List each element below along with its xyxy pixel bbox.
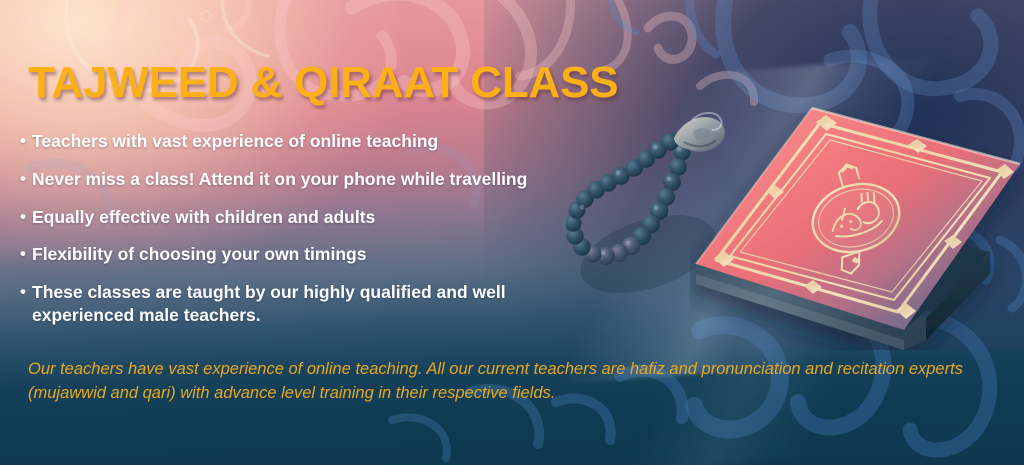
- list-item-label: Equally effective with children and adul…: [32, 206, 640, 229]
- bullet-dot-icon: •: [20, 243, 32, 265]
- list-item-label: These classes are taught by our highly q…: [32, 281, 640, 327]
- list-item-label: Teachers with vast experience of online …: [32, 130, 640, 153]
- list-item-label: Flexibility of choosing your own timings: [32, 243, 640, 266]
- list-item: • Teachers with vast experience of onlin…: [20, 130, 640, 153]
- list-item: • Never miss a class! Attend it on your …: [20, 168, 640, 191]
- banner-content: TAJWEED & QIRAAT CLASS • Teachers with v…: [0, 0, 1024, 465]
- bullet-dot-icon: •: [20, 206, 32, 228]
- footnote-text: Our teachers have vast experience of onl…: [28, 358, 988, 406]
- list-item-label: Never miss a class! Attend it on your ph…: [32, 168, 640, 191]
- bullet-dot-icon: •: [20, 281, 32, 303]
- list-item: • Flexibility of choosing your own timin…: [20, 243, 640, 266]
- list-item: • These classes are taught by our highly…: [20, 281, 640, 327]
- list-item: • Equally effective with children and ad…: [20, 206, 640, 229]
- promo-banner: TAJWEED & QIRAAT CLASS • Teachers with v…: [0, 0, 1024, 465]
- bullet-dot-icon: •: [20, 168, 32, 190]
- bullet-dot-icon: •: [20, 130, 32, 152]
- feature-list: • Teachers with vast experience of onlin…: [20, 130, 640, 342]
- page-title: TAJWEED & QIRAAT CLASS: [28, 58, 618, 108]
